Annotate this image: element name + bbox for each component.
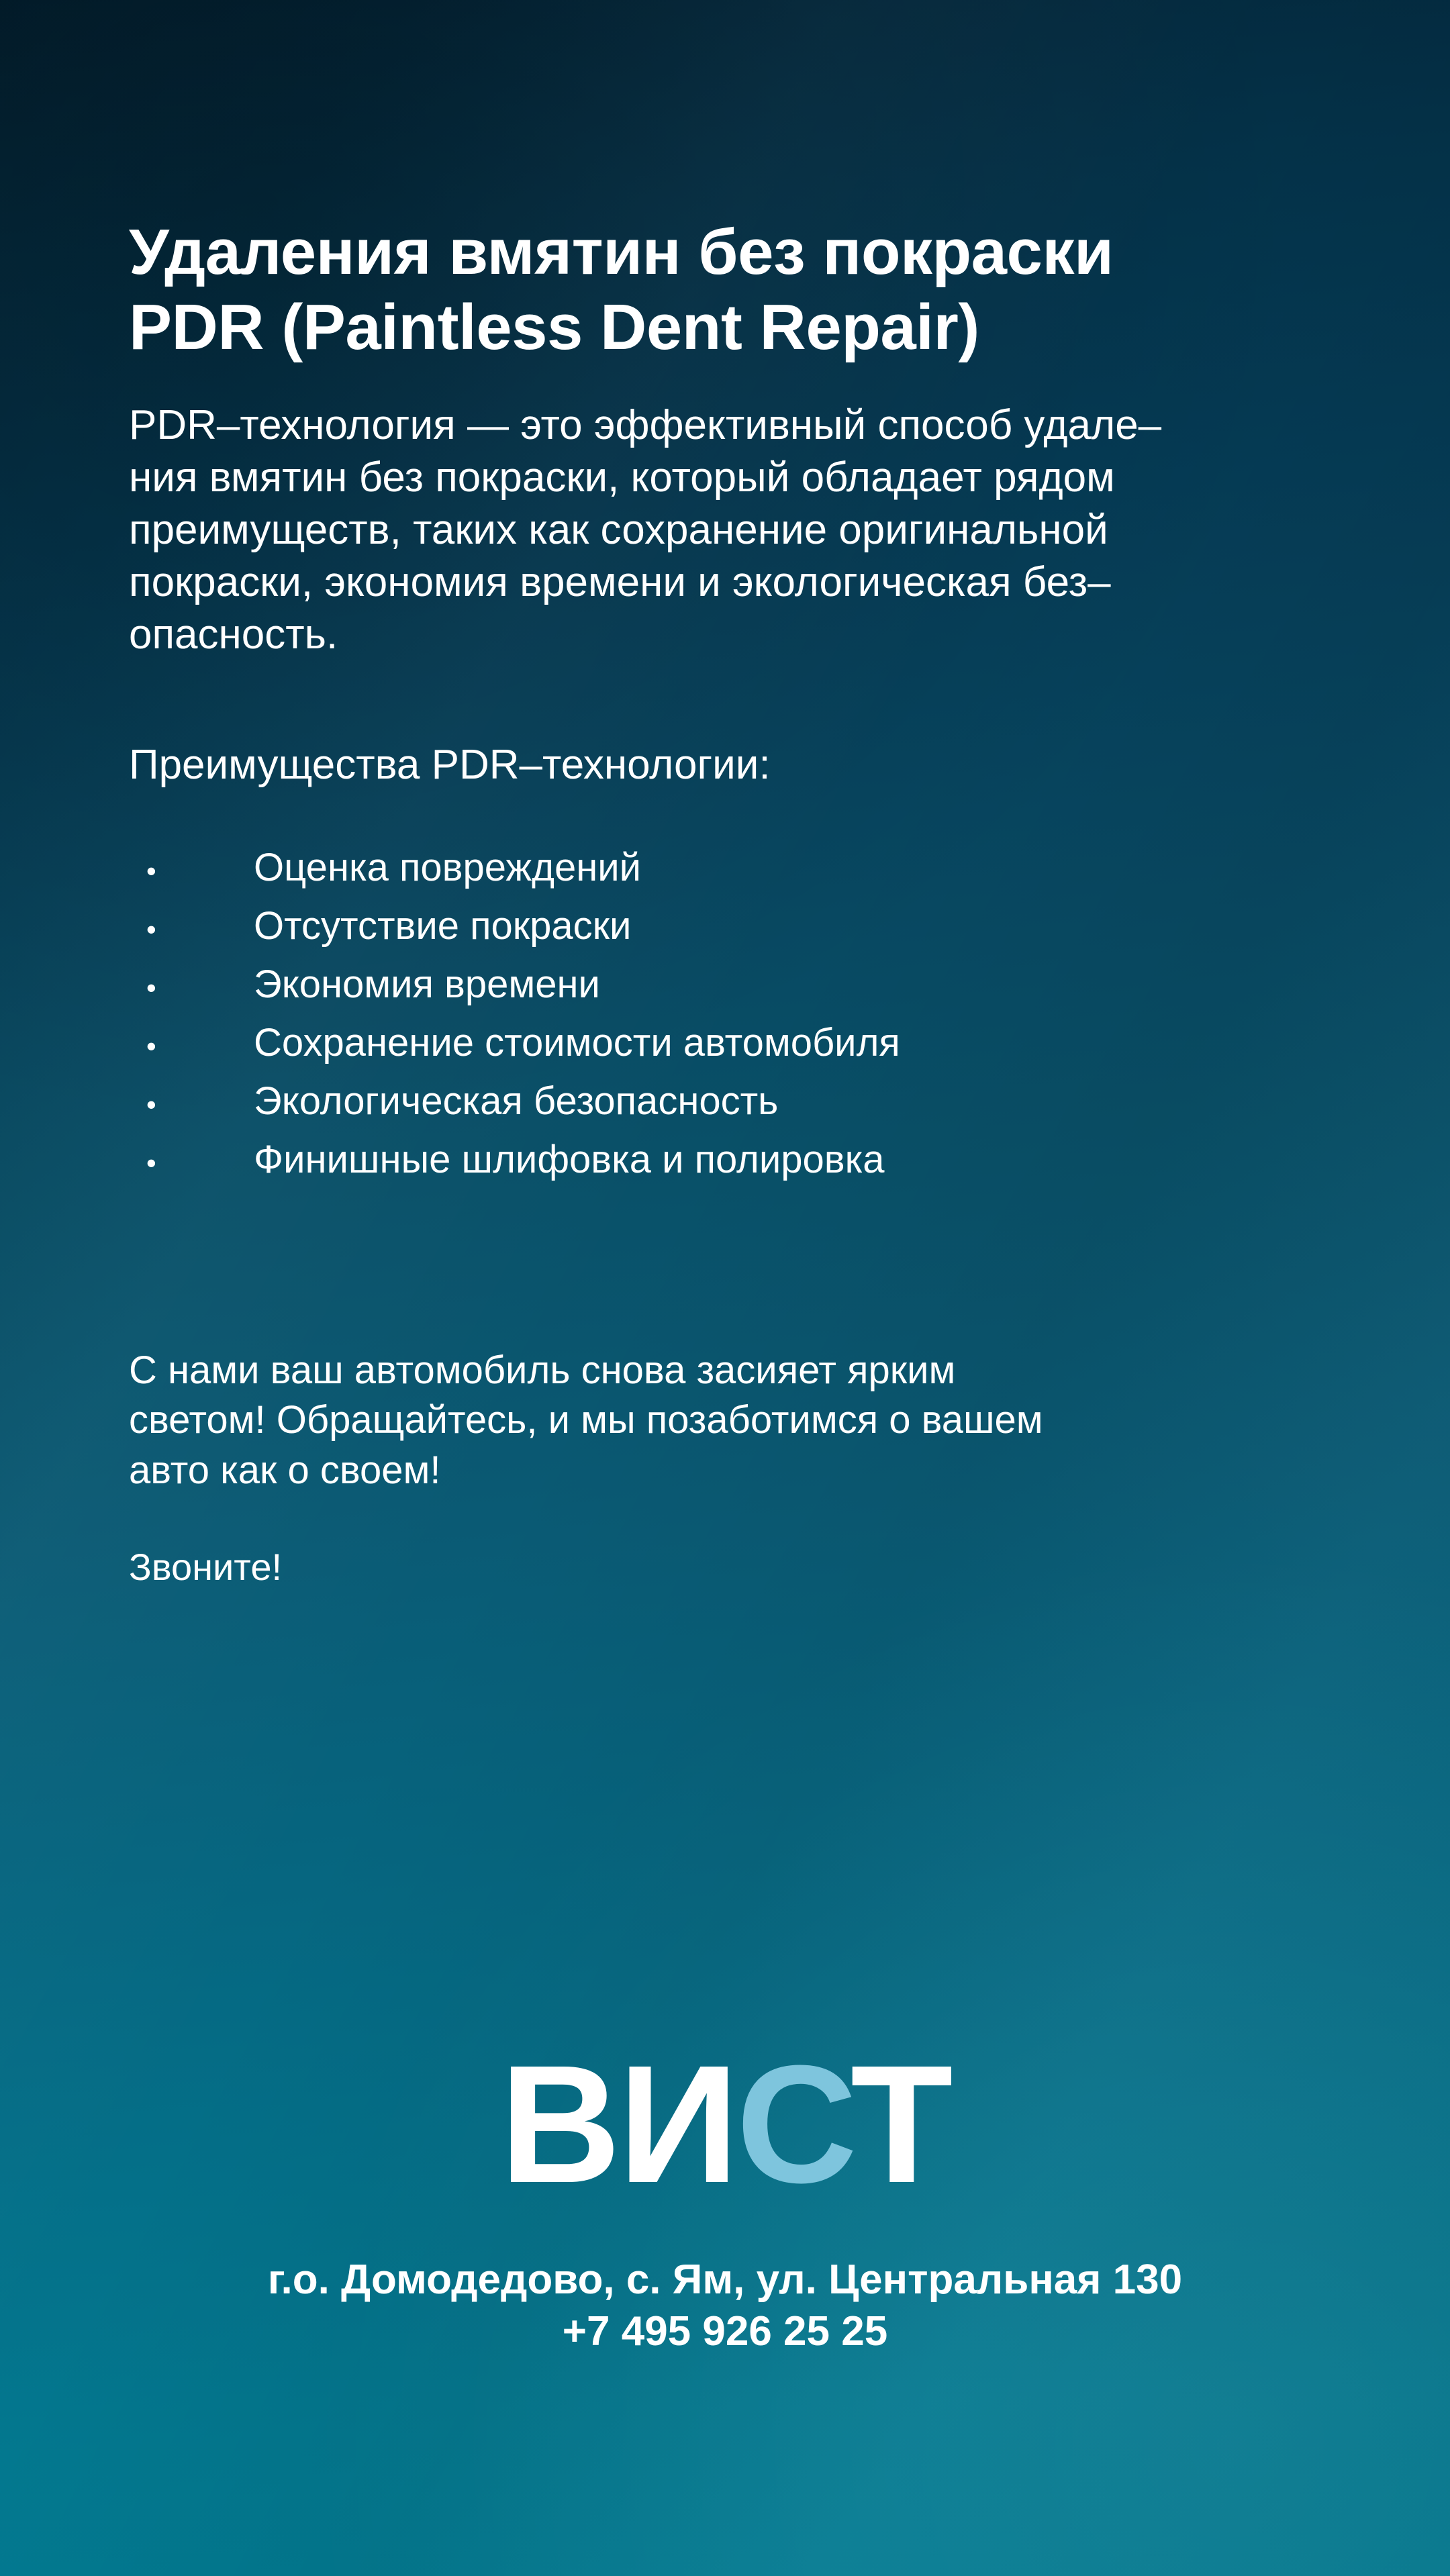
call-to-action-text: Звоните! bbox=[129, 1544, 1321, 1589]
list-item-label: Экологическая безопасность bbox=[254, 1082, 1321, 1121]
bullet-icon: • bbox=[129, 1032, 254, 1060]
list-item-label: Отсутствие покраски bbox=[254, 907, 1321, 946]
list-item-label: Оценка повреждений bbox=[254, 848, 1321, 887]
closing-line-2: светом! Обращайтесь, и мы позаботимся о … bbox=[129, 1395, 1284, 1446]
list-item: • Сохранение стоимости автомобиля bbox=[129, 1024, 1321, 1062]
bullet-icon: • bbox=[129, 974, 254, 1002]
footer-phone[interactable]: +7 495 926 25 25 bbox=[81, 2307, 1369, 2356]
closing-paragraph: С нами ваш автомобиль снова засияет ярки… bbox=[129, 1346, 1284, 1496]
list-item: • Финишные шлифовка и полировка bbox=[129, 1140, 1321, 1179]
title-line-1: Удаления вмятин без покраски bbox=[129, 215, 1284, 290]
list-item: • Экологическая безопасность bbox=[129, 1082, 1321, 1121]
bullet-icon: • bbox=[129, 1091, 254, 1119]
closing-line-3: авто как о своем! bbox=[129, 1446, 1284, 1496]
intro-line-4: покраски, экономия времени и экологическ… bbox=[129, 556, 1270, 609]
intro-line-3: преимуществ, таких как сохранение оригин… bbox=[129, 504, 1270, 556]
title-line-2: PDR (Paintless Dent Repair) bbox=[129, 290, 1284, 365]
page-title: Удаления вмятин без покраски PDR (Paintl… bbox=[129, 0, 1284, 366]
advantages-heading: Преимущества PDR–технологии: bbox=[129, 740, 1321, 790]
list-item: • Отсутствие покраски bbox=[129, 907, 1321, 946]
footer-contact: г.о. Домодедово, с. Ям, ул. Центральная … bbox=[0, 2255, 1450, 2356]
bullet-icon: • bbox=[129, 1149, 254, 1177]
advantages-list: • Оценка повреждений • Отсутствие покрас… bbox=[129, 848, 1321, 1179]
footer-address: г.о. Домодедово, с. Ям, ул. Центральная … bbox=[81, 2255, 1369, 2304]
closing-line-1: С нами ваш автомобиль снова засияет ярки… bbox=[129, 1346, 1284, 1396]
intro-line-5: опасность. bbox=[129, 609, 1270, 661]
logo-part-t: Т bbox=[851, 2030, 951, 2218]
logo-part-vi: ВИ bbox=[499, 2030, 736, 2218]
bullet-icon: • bbox=[129, 915, 254, 944]
list-item: • Экономия времени bbox=[129, 965, 1321, 1004]
list-item: • Оценка повреждений bbox=[129, 848, 1321, 887]
company-logo: ВИСТ bbox=[0, 2040, 1450, 2208]
intro-line-2: ния вмятин без покраски, который обладае… bbox=[129, 452, 1270, 504]
intro-line-1: PDR–технология — это эффективный способ … bbox=[129, 399, 1270, 452]
list-item-label: Сохранение стоимости автомобиля bbox=[254, 1024, 1321, 1062]
list-item-label: Экономия времени bbox=[254, 965, 1321, 1004]
intro-paragraph: PDR–технология — это эффективный способ … bbox=[129, 399, 1270, 662]
poster-canvas: Удаления вмятин без покраски PDR (Paintl… bbox=[0, 0, 1450, 2576]
bullet-icon: • bbox=[129, 857, 254, 885]
list-item-label: Финишные шлифовка и полировка bbox=[254, 1140, 1321, 1179]
logo-part-s: С bbox=[736, 2030, 851, 2218]
